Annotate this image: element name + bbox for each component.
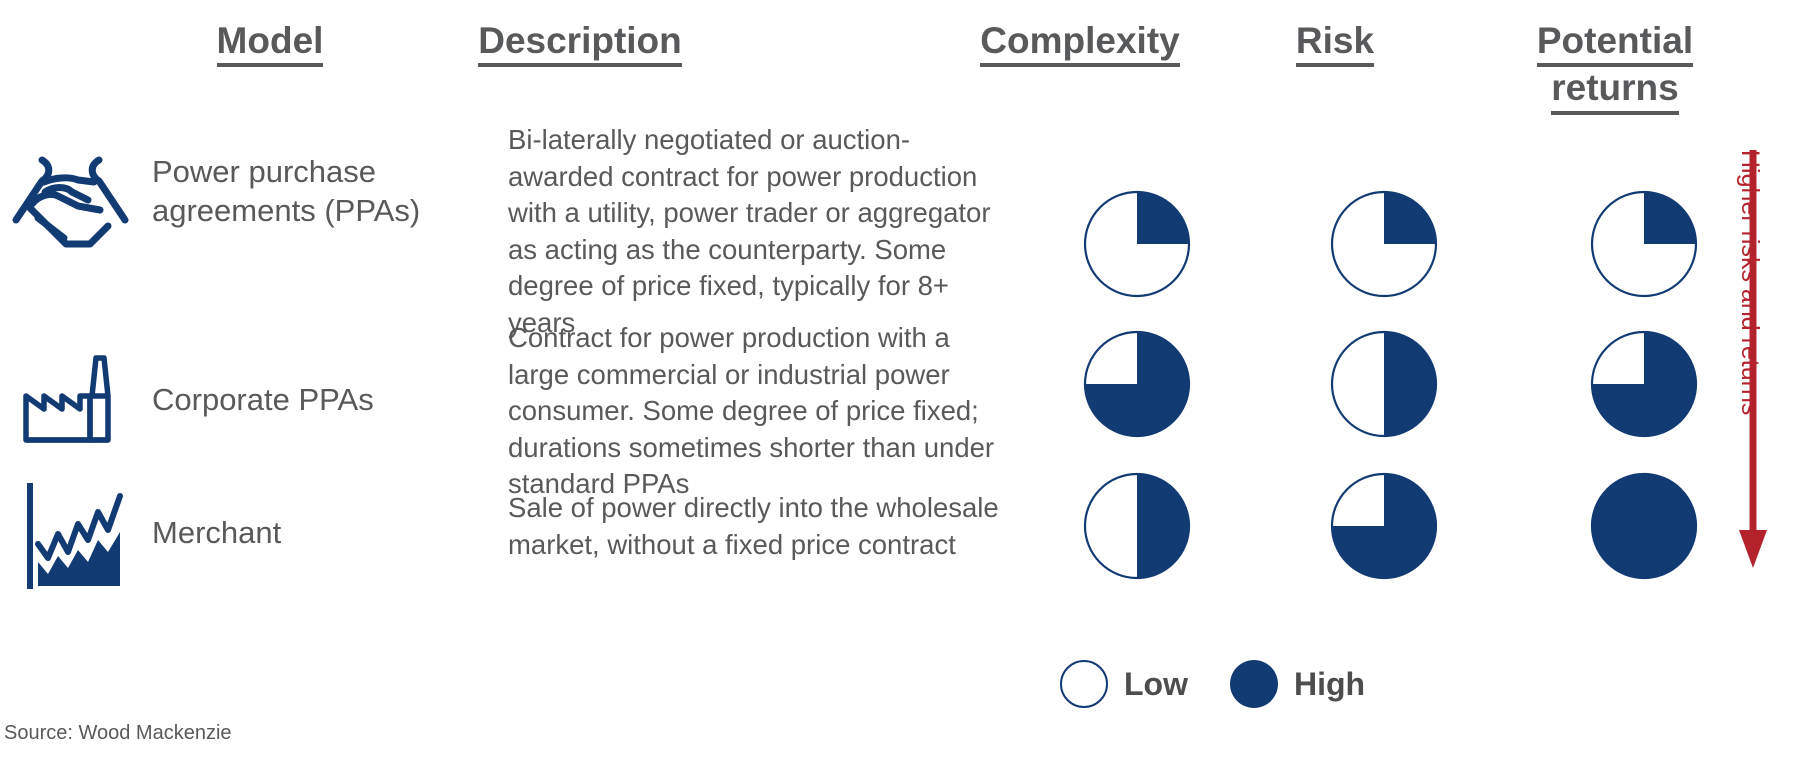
legend-swatch-high	[1230, 660, 1278, 708]
pie-complexity-corporate-ppa	[1083, 330, 1191, 438]
column-header-complexity: Complexity	[955, 20, 1205, 67]
pie-returns-merchant	[1590, 472, 1698, 580]
column-header-potential-returns-line1: Potential	[1537, 20, 1693, 67]
column-header-risk-label: Risk	[1296, 20, 1374, 67]
volatility-chart-icon	[24, 482, 134, 592]
description-ppa: Bi-laterally negotiated or auction-award…	[508, 122, 1003, 341]
legend-swatch-low	[1060, 660, 1108, 708]
pie-complexity-merchant	[1083, 472, 1191, 580]
legend: Low High	[1060, 660, 1391, 708]
pie-risk-merchant	[1330, 472, 1438, 580]
source-note: Source: Wood Mackenzie	[4, 722, 232, 745]
column-header-risk: Risk	[1250, 20, 1420, 67]
column-header-model: Model	[110, 20, 430, 67]
model-label-merchant: Merchant	[152, 513, 452, 552]
column-header-description: Description	[400, 20, 760, 67]
pie-returns-ppa	[1590, 190, 1698, 298]
legend-label-low: Low	[1124, 666, 1188, 703]
higher-risks-arrow-label: Higher risks and returns	[1737, 150, 1762, 550]
legend-label-high: High	[1294, 666, 1365, 703]
pie-returns-corporate-ppa	[1590, 330, 1698, 438]
column-header-model-label: Model	[217, 20, 324, 67]
pie-risk-corporate-ppa	[1330, 330, 1438, 438]
column-header-potential-returns: Potential returns	[1490, 20, 1740, 115]
handshake-icon	[8, 148, 133, 258]
description-corporate-ppa: Contract for power production with a lar…	[508, 320, 1003, 503]
model-label-corporate-ppa: Corporate PPAs	[152, 380, 452, 419]
pie-complexity-ppa	[1083, 190, 1191, 298]
model-label-ppa: Power purchase agreements (PPAs)	[152, 152, 432, 230]
column-header-description-label: Description	[478, 20, 682, 67]
infographic-canvas: Model Description Complexity Risk Potent…	[0, 0, 1800, 757]
column-header-potential-returns-line2: returns	[1551, 67, 1678, 114]
pie-risk-ppa	[1330, 190, 1438, 298]
description-merchant: Sale of power directly into the wholesal…	[508, 490, 1003, 563]
column-header-complexity-label: Complexity	[980, 20, 1179, 67]
factory-icon	[22, 352, 132, 447]
